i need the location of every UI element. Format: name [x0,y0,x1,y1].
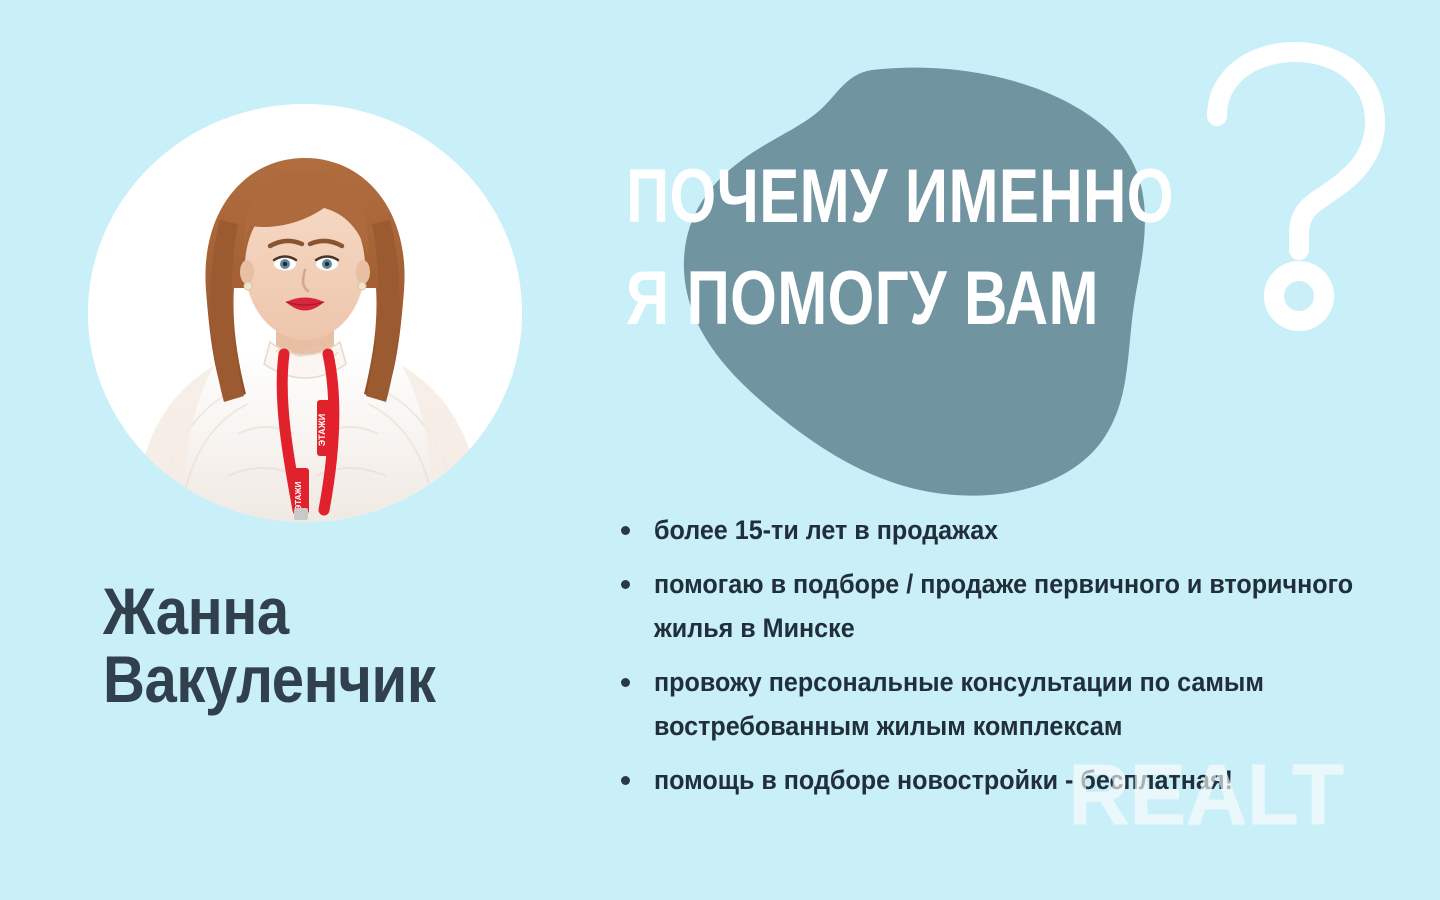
svg-text:ЭТАЖИ: ЭТАЖИ [317,414,327,446]
benefits-list: более 15-ти лет в продажах помогаю в под… [616,508,1426,802]
agent-name: Жанна Вакуленчик [103,578,561,714]
agent-photo: ЭТАЖИ ЭТАЖИ [88,104,522,522]
list-item: провожу персональные консультации по сам… [616,660,1426,748]
benefit-text: провожу персональные консультации по сам… [654,660,1426,748]
bullet-dot-icon [621,580,630,589]
benefit-text: помощь в подборе новостройки - бесплатна… [654,758,1426,802]
promo-poster: ЭТАЖИ ЭТАЖИ Жанна Вакуленчик ПОЧЕМУ ИМЕН… [0,0,1440,900]
benefit-text: помогаю в подборе / продаже первичного и… [654,562,1426,650]
svg-text:ЭТАЖИ: ЭТАЖИ [294,481,303,510]
list-item: помогаю в подборе / продаже первичного и… [616,562,1426,650]
benefit-text: более 15-ти лет в продажах [654,508,1426,552]
list-item: помощь в подборе новостройки - бесплатна… [616,758,1426,802]
bullet-dot-icon [621,678,630,687]
bullet-dot-icon [621,776,630,785]
question-mark-icon [1195,38,1410,338]
list-item: более 15-ти лет в продажах [616,508,1426,552]
headline: ПОЧЕМУ ИМЕННО Я ПОМОГУ ВАМ [626,146,1179,350]
bullet-dot-icon [621,526,630,535]
portrait-illustration: ЭТАЖИ ЭТАЖИ [88,104,522,522]
